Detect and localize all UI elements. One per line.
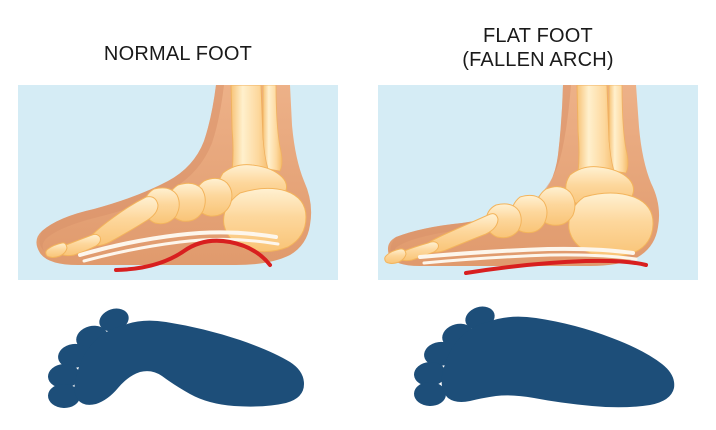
anatomy-normal-foot	[18, 85, 338, 280]
illustration-stage: NORMAL FOOT FLAT FOOT (FALLEN ARCH)	[0, 0, 716, 430]
footprint-sole-normal	[74, 321, 304, 407]
footprint-normal	[28, 296, 328, 416]
footprint-toe-5-flat	[414, 381, 447, 406]
calcaneus-bone-flat	[569, 193, 653, 257]
panel-title-flat: FLAT FOOT (FALLEN ARCH)	[378, 24, 698, 72]
panel-title-normal: NORMAL FOOT	[18, 42, 338, 66]
footprint-flat	[400, 296, 700, 416]
anatomy-flat-foot	[378, 85, 698, 280]
footprint-sole-flat	[442, 317, 675, 408]
